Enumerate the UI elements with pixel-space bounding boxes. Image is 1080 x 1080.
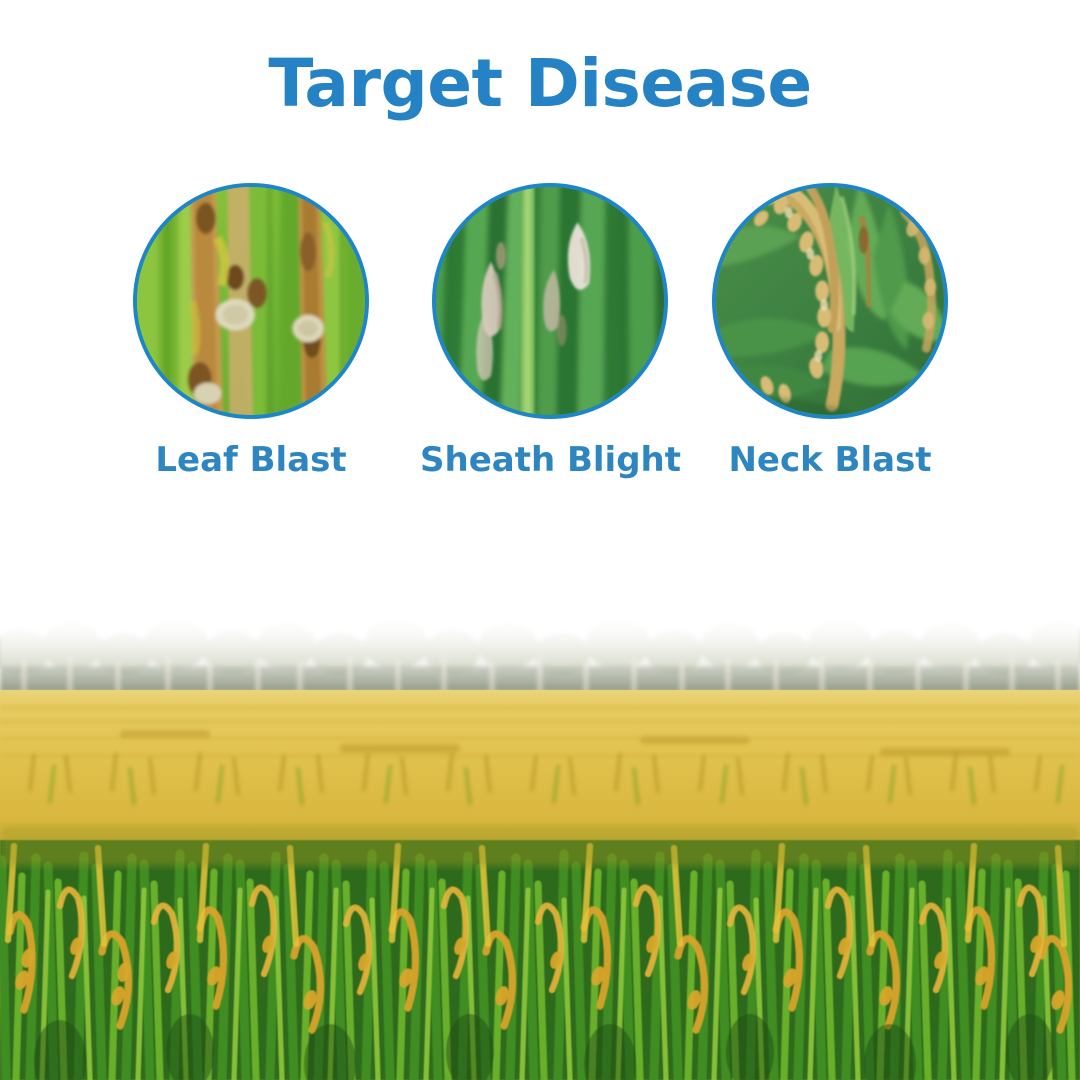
disease-photo-circle (712, 183, 948, 419)
disease-photo-circle (432, 183, 668, 419)
rice-field-photo (0, 540, 1080, 1080)
disease-label: Neck Blast (700, 440, 960, 480)
page-title: Target Disease (0, 46, 1080, 122)
sheath-blight-photo (432, 183, 668, 419)
disease-label: Leaf Blast (121, 440, 381, 480)
disease-list: Leaf Blast (0, 183, 1080, 483)
leaf-blast-photo (133, 183, 369, 419)
disease-item-leaf-blast[interactable]: Leaf Blast (121, 183, 381, 480)
disease-item-sheath-blight[interactable]: Sheath Blight (420, 183, 680, 480)
disease-label: Sheath Blight (420, 440, 680, 480)
disease-photo-circle (133, 183, 369, 419)
neck-blast-photo (712, 183, 948, 419)
poster-canvas: Target Disease (0, 0, 1080, 1080)
disease-item-neck-blast[interactable]: Neck Blast (700, 183, 960, 480)
